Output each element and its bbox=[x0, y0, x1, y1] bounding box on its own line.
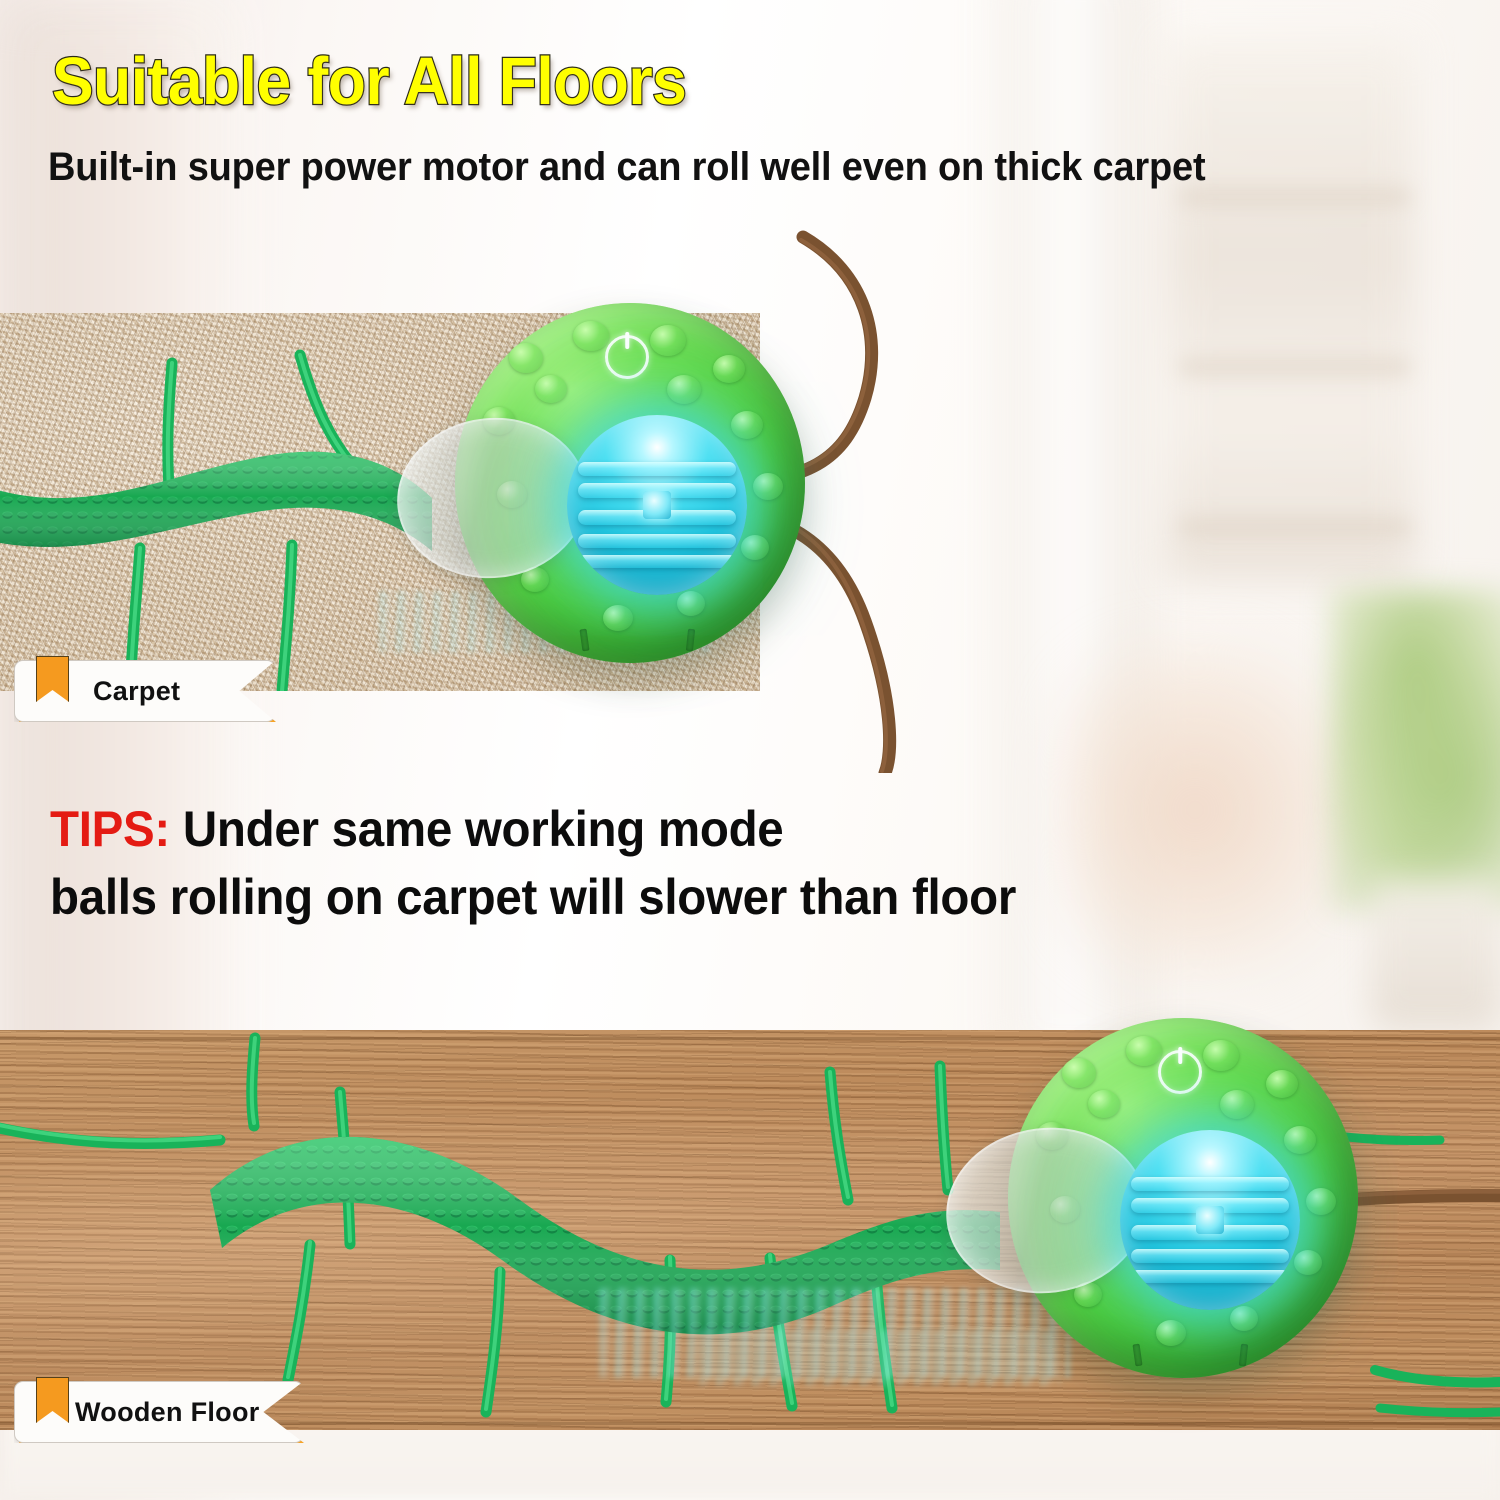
cat-ball-toy-carpet bbox=[455, 303, 805, 663]
tips-keyword: TIPS: bbox=[50, 801, 170, 857]
tips-text-block: TIPS: Under same working mode balls roll… bbox=[50, 795, 1067, 931]
ball-bump bbox=[509, 343, 543, 373]
ball-led-window bbox=[1120, 1130, 1300, 1310]
ball-bump bbox=[1306, 1188, 1336, 1215]
page-headline: Suitable for All Floors bbox=[52, 48, 686, 115]
power-icon[interactable] bbox=[605, 335, 649, 379]
led-slat bbox=[578, 462, 736, 476]
ball-bump bbox=[1156, 1320, 1186, 1346]
background-shelf-line bbox=[1180, 190, 1410, 204]
badge-label: Wooden Floor bbox=[75, 1397, 260, 1428]
led-slat bbox=[578, 555, 736, 568]
led-slat bbox=[1131, 1177, 1289, 1191]
background-warm-blob bbox=[1060, 640, 1360, 980]
ball-bump bbox=[713, 355, 745, 383]
background-shelf bbox=[1165, 40, 1415, 580]
led-hub bbox=[643, 491, 672, 520]
ball-bump bbox=[741, 535, 769, 560]
background-shelf-line bbox=[1180, 360, 1410, 374]
tips-line-2: balls rolling on carpet will slower than… bbox=[50, 863, 1016, 931]
ball-bump bbox=[677, 591, 705, 616]
led-slat bbox=[578, 534, 736, 548]
power-icon[interactable] bbox=[1158, 1050, 1202, 1094]
background-shelf-line bbox=[1180, 520, 1410, 534]
ball-bump bbox=[1230, 1306, 1258, 1331]
ball-bump bbox=[603, 605, 633, 631]
ball-bump bbox=[1284, 1126, 1316, 1154]
ball-bump bbox=[650, 325, 686, 356]
ball-bump bbox=[1203, 1040, 1239, 1071]
ball-bump bbox=[1220, 1090, 1254, 1119]
ball-bump bbox=[1126, 1036, 1162, 1066]
page-subheadline: Built-in super power motor and can roll … bbox=[48, 145, 1205, 190]
ball-bump bbox=[1062, 1058, 1096, 1088]
led-hub bbox=[1196, 1206, 1225, 1235]
background-plant-pot bbox=[1370, 880, 1500, 1030]
carpet-label-badge: Carpet bbox=[14, 660, 276, 722]
ball-bump bbox=[753, 473, 783, 500]
ball-bump bbox=[573, 321, 609, 351]
ball-bump bbox=[667, 375, 701, 404]
cat-ball-toy-wood bbox=[1008, 1018, 1358, 1378]
ball-bump bbox=[535, 375, 567, 403]
badge-label: Carpet bbox=[93, 676, 180, 707]
wooden-floor-label-badge: Wooden Floor bbox=[14, 1381, 304, 1443]
tips-line-1: TIPS: Under same working mode bbox=[50, 795, 1016, 863]
ball-bump bbox=[1266, 1070, 1298, 1098]
ball-bump bbox=[1294, 1250, 1322, 1275]
ball-bump bbox=[731, 411, 763, 439]
led-slat bbox=[1131, 1249, 1289, 1263]
ball-led-window bbox=[567, 415, 747, 595]
led-slat bbox=[1131, 1270, 1289, 1283]
tips-line-1-rest: Under same working mode bbox=[170, 801, 783, 857]
ball-bump bbox=[1088, 1090, 1120, 1118]
background-plant bbox=[1330, 590, 1500, 910]
